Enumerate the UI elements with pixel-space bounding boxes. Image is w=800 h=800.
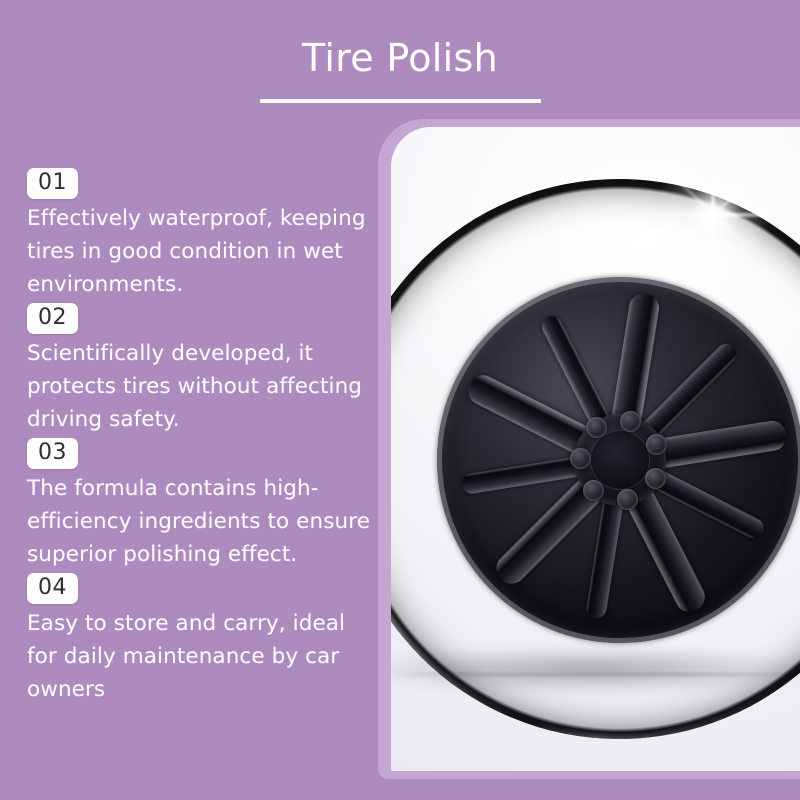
feature-text-03: The formula contains high-efficiency ing… — [27, 472, 372, 571]
feature-text-01: Effectively waterproof, keeping tires in… — [27, 202, 372, 301]
wheel-lug-nut — [645, 468, 666, 489]
title-block: Tire Polish — [0, 34, 800, 103]
feature-text-04: Easy to store and carry, ideal for daily… — [27, 607, 372, 706]
product-image-panel — [391, 127, 800, 771]
feature-item-02: 02 Scientifically developed, it protects… — [27, 303, 372, 436]
feature-item-04: 04 Easy to store and carry, ideal for da… — [27, 573, 372, 706]
feature-item-03: 03 The formula contains high-efficiency … — [27, 438, 372, 571]
page-title: Tire Polish — [0, 34, 800, 82]
feature-number-badge-03: 03 — [27, 438, 78, 469]
wheel-lug-nut — [617, 489, 638, 510]
feature-item-01: 01 Effectively waterproof, keeping tires… — [27, 168, 372, 301]
title-underline-divider — [260, 99, 541, 103]
wheel-lug-nut — [620, 411, 641, 432]
wheel-lug-nut — [646, 434, 667, 455]
feature-list: 01 Effectively waterproof, keeping tires… — [27, 168, 372, 708]
feature-number-badge-04: 04 — [27, 573, 78, 604]
feature-number-badge-02: 02 — [27, 303, 78, 334]
product-feature-poster: Tire Polish 01 Effectively waterproof, k… — [0, 0, 800, 800]
product-photo-wheel — [391, 127, 800, 771]
feature-number-badge-01: 01 — [27, 168, 78, 199]
feature-text-02: Scientifically developed, it protects ti… — [27, 337, 372, 436]
wheel-lug-nut — [570, 448, 591, 469]
wheel-lug-nut — [586, 417, 607, 438]
